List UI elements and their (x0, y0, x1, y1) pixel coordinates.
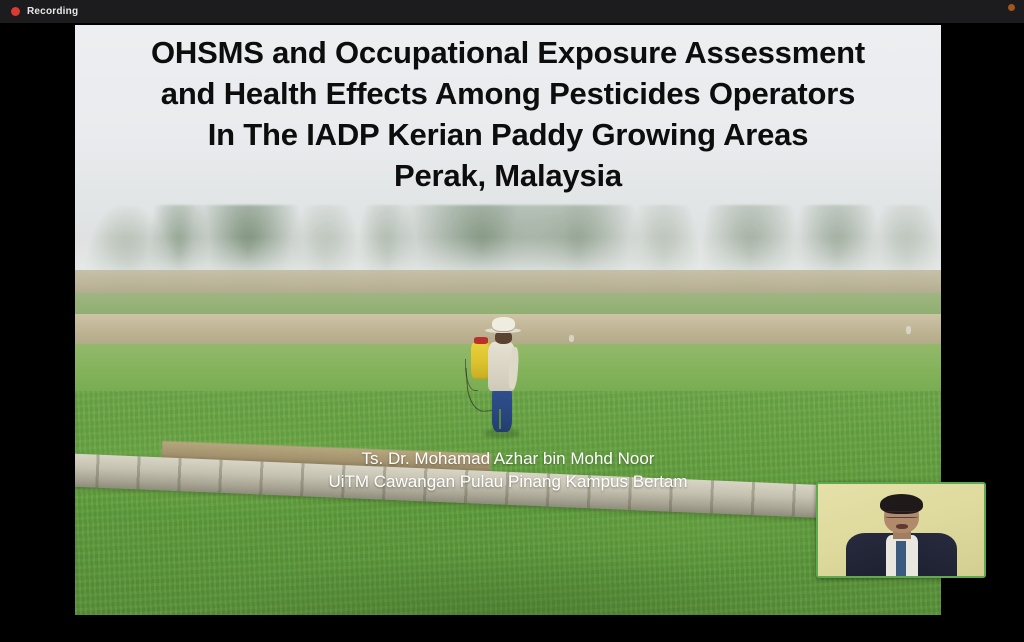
slide-title-line-1: OHSMS and Occupational Exposure Assessme… (75, 32, 941, 73)
slide-title-line-4: Perak, Malaysia (75, 155, 941, 196)
meeting-top-bar: Recording (0, 0, 1024, 23)
operator-leg-gap (499, 409, 501, 429)
distant-figure (906, 326, 911, 334)
presenter-name: Ts. Dr. Mohamad Azhar bin Mohd Noor (75, 447, 941, 470)
presenter-affiliation: UiTM Cawangan Pulau Pinang Kampus Bertam (75, 470, 941, 493)
slide-title-line-3: In The IADP Kerian Paddy Growing Areas (75, 114, 941, 155)
operator-head (495, 331, 512, 343)
pesticide-operator-figure (460, 317, 538, 441)
operator-hat (492, 317, 515, 331)
distant-figure (569, 335, 574, 342)
presentation-slide: OHSMS and Occupational Exposure Assessme… (75, 25, 941, 615)
sprayer-tank-cap (474, 337, 487, 343)
recording-indicator-icon (11, 7, 20, 16)
participant-glasses (885, 511, 918, 518)
slide-credit-block: Ts. Dr. Mohamad Azhar bin Mohd Noor UiTM… (75, 447, 941, 493)
slide-title-block: OHSMS and Occupational Exposure Assessme… (75, 32, 941, 196)
meeting-screen-share-view: Recording (0, 0, 1024, 642)
participant-tie (896, 541, 906, 576)
recording-label: Recording (27, 6, 78, 17)
participant-video-tile[interactable] (816, 482, 986, 578)
slide-title-line-2: and Health Effects Among Pesticides Oper… (75, 73, 941, 114)
status-indicator-icon (1008, 4, 1015, 11)
slide-photo-far-stubble-band (75, 270, 941, 297)
operator-legs (492, 389, 512, 432)
participant-mouth (896, 524, 908, 529)
